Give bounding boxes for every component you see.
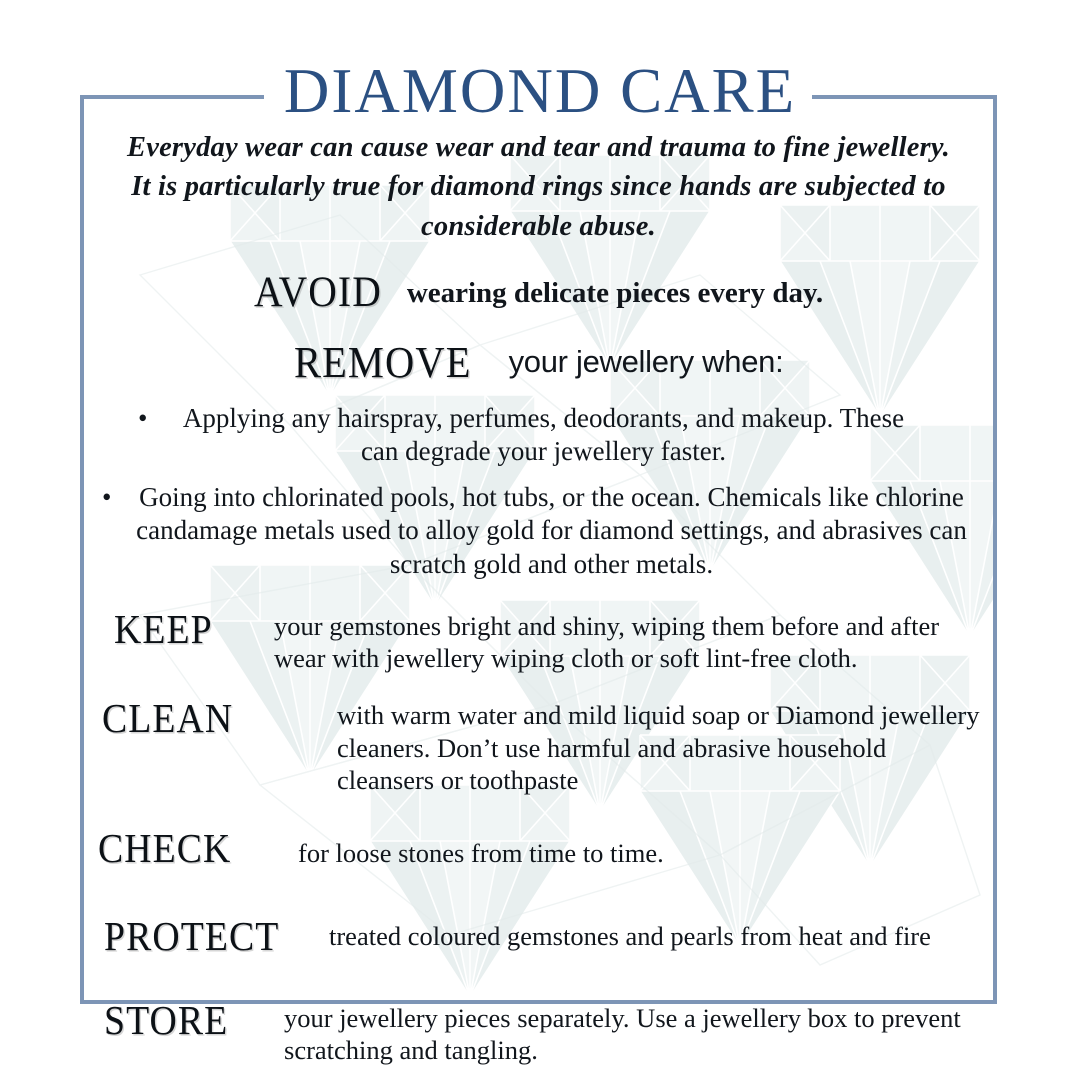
keep-body: your gemstones bright and shiny, wiping … [264, 603, 987, 674]
bullet-icon: • [138, 402, 147, 435]
store-keyword: STORE [104, 996, 228, 1044]
section-clean: CLEAN with warm water and mild liquid so… [102, 692, 987, 795]
section-store: STORE your jewellery pieces separately. … [104, 994, 987, 1066]
keep-keyword-column: KEEP [114, 603, 264, 653]
frame-border-left [80, 95, 84, 1004]
care-instructions-content: Everyday wear can cause wear and tear an… [90, 128, 987, 1066]
store-keyword-column: STORE [104, 994, 274, 1044]
protect-keyword-column: PROTECT [104, 910, 319, 960]
clean-body: with warm water and mild liquid soap or … [327, 692, 987, 795]
keep-keyword: KEEP [114, 605, 213, 653]
check-keyword: CHECK [98, 824, 231, 872]
intro-paragraph: Everyday wear can cause wear and tear an… [116, 128, 961, 246]
clean-keyword: CLEAN [102, 694, 233, 742]
section-check: CHECK for loose stones from time to time… [98, 822, 987, 872]
store-body: your jewellery pieces separately. Use a … [274, 994, 987, 1066]
remove-body: your jewellery when: [487, 344, 784, 379]
protect-body: treated coloured gemstones and pearls fr… [319, 910, 987, 952]
clean-keyword-column: CLEAN [102, 692, 327, 742]
remove-bullet-list: •Applying any hairspray, perfumes, deodo… [90, 402, 987, 581]
check-keyword-column: CHECK [98, 822, 288, 872]
list-item: •Applying any hairspray, perfumes, deodo… [90, 402, 987, 469]
list-item: •Going into chlorinated pools, hot tubs,… [90, 481, 987, 581]
avoid-keyword: AVOID [254, 268, 382, 317]
page-title: DIAMOND CARE [0, 60, 1080, 123]
frame-border-right [993, 95, 997, 1004]
section-keep: KEEP your gemstones bright and shiny, wi… [114, 603, 987, 674]
avoid-section: AVOIDwearing delicate pieces every day. [90, 268, 987, 317]
remove-keyword: REMOVE [294, 337, 472, 388]
protect-keyword: PROTECT [104, 912, 279, 960]
remove-section: REMOVEyour jewellery when: [90, 337, 987, 388]
section-protect: PROTECT treated coloured gemstones and p… [104, 910, 987, 960]
bullet-icon: • [102, 481, 111, 514]
avoid-body: wearing delicate pieces every day. [393, 277, 823, 309]
list-item-text: Applying any hairspray, perfumes, deodor… [183, 403, 904, 466]
check-body: for loose stones from time to time. [288, 822, 987, 869]
list-item-text: Going into chlorinated pools, hot tubs, … [136, 482, 967, 579]
